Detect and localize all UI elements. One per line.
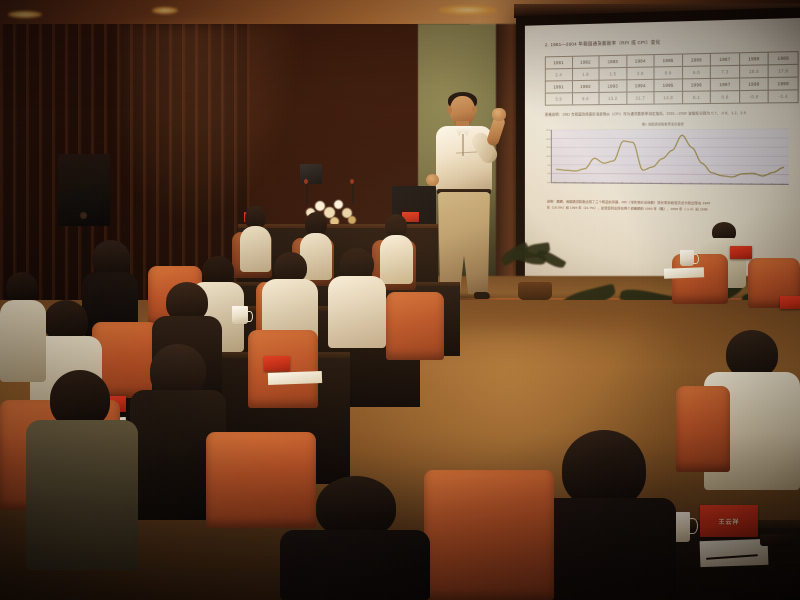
ceiling-light-icon [152,7,178,14]
audience-head [562,430,646,508]
mug-handle [247,311,253,322]
chart-x-tick: 04 [781,184,783,186]
audience-body [280,530,430,600]
microphone-head-icon [304,179,308,184]
table-cell: 1984 [626,55,654,68]
slide-surface: 2. 1981—2004 年我国通货膨胀率（RPI 或 CPI）变化 1981 … [525,18,800,285]
chart-x-tick: 99 [730,184,732,186]
table-row-values-2: 3.9 8.6 13.2 21.7 14.8 6.1 0.8 -0.8 -1.4 [545,90,798,105]
audience-member [280,476,430,600]
audience-head [316,476,396,538]
table-cell: 1996 [682,78,710,91]
audience-chair [424,470,554,600]
chart-x-tick: 85 [592,183,594,185]
table-cell: 1997 [711,78,740,91]
inflation-line-chart [551,129,789,185]
table-cell: 1998 [739,78,768,91]
chart-plot-area [552,129,789,184]
table-cell: 1.5 [599,67,626,80]
audience-member [0,272,46,382]
table-cell: 1993 [599,80,626,93]
table-cell: 13.2 [599,92,626,105]
audience-member [26,370,138,570]
presenter-shoe [474,292,490,299]
table-cell: 1983 [599,55,626,68]
ceiling-light-icon [438,5,498,15]
audience-body [26,420,138,570]
name-card [264,356,290,371]
chart-x-tick: 96 [700,183,702,185]
chart-x-tick: 87 [611,183,613,185]
flower [334,200,343,209]
chart-x-tick: 97 [710,183,712,185]
slide-heading: 2. 1981—2004 年我国通货膨胀率（RPI 或 CPI）变化 [545,39,661,48]
table-cell: -0.8 [739,90,768,103]
table-cell: 1.9 [572,68,599,81]
table-cell: 1986 [682,53,710,66]
table-cell: 21.7 [626,92,654,105]
chart-x-tick: 86 [602,183,604,185]
chart-x-tick: 88 [621,183,623,185]
name-card [730,246,752,259]
speaker-driver-icon [80,212,87,219]
audience-head [92,240,130,276]
chart-x-tick: 95 [690,183,692,185]
presenter-ear [447,106,452,114]
table-cell: 17.8 [769,64,799,77]
table-cell: 6.1 [682,91,710,104]
table-cell: -1.4 [769,90,799,103]
slide-note: 表格说明：1981 年我国改用居民消费物价（CPI）作为通货膨胀率测定指标，20… [545,110,746,117]
table-cell: 8.6 [572,92,599,105]
table-cell: 1999 [769,77,799,90]
audience-head [726,330,778,378]
name-card: 王云祥 [700,505,758,537]
name-card [780,296,800,309]
chart-x-tick: 82 [564,182,566,184]
audience-chair [386,292,444,360]
chart-title: 图1 我国通货膨胀率变化趋势 [525,121,800,127]
chart-x-tick: 01 [750,184,752,186]
mug-handle [693,254,699,264]
chart-x-tick: 98 [720,183,722,185]
table-cell: 1995 [654,79,682,92]
audience-chair [676,386,730,472]
table-cell: 1994 [626,79,654,92]
name-card-text: 王云祥 [718,517,739,526]
chart-x-tick: 81 [554,182,556,184]
table-cell: 1987 [711,53,740,66]
table-cell: 1985 [654,54,682,67]
table-cell: 18.5 [739,65,768,78]
mug-handle [688,518,698,534]
table-cell: 2.4 [545,68,572,81]
chart-x-axis-labels: 8182838485868788899091929394959697989900… [551,182,788,191]
presenter-trousers [438,192,490,294]
audience-body [328,276,386,348]
chart-x-tick: 03 [771,184,773,186]
curtain-light-glow [120,24,300,224]
chart-x-tick: 89 [631,183,633,185]
presenter-ear [472,106,477,114]
chart-x-tick: 92 [660,183,662,185]
chart-x-tick: 02 [761,184,763,186]
notepad [664,267,704,278]
table-cell: 0.8 [711,91,740,104]
notepad [700,539,769,567]
chart-x-tick: 83 [573,182,575,184]
table-cell: 1981 [545,56,572,69]
table-cell: 1988 [739,52,768,65]
table-cell: 3.9 [545,93,572,105]
chart-x-tick: 90 [641,183,643,185]
mug [232,306,248,324]
chart-x-tick: 91 [650,183,652,185]
inflation-table: 1981 1982 1983 1984 1985 1986 1987 1988 … [545,51,799,106]
table-cell: 2.8 [626,67,654,80]
mug [680,250,694,266]
chart-x-tick: 84 [583,182,585,184]
presenter-left-hand [426,174,439,186]
chart-y-axis-labels: 25%20%15%10%5%0%-5% [535,128,551,186]
table-cell: 14.8 [654,91,682,104]
table-cell: 1982 [572,56,599,69]
microphone-head-icon [350,179,354,184]
eyeglasses-case [760,534,794,546]
chart-x-tick: 94 [680,183,682,185]
table-cell: 8.8 [654,66,682,79]
conference-room-photo: 2. 1981—2004 年我国通货膨胀率（RPI 或 CPI）变化 1981 … [0,0,800,600]
table-cell: 7.3 [711,65,740,78]
ceiling-light-icon [8,11,42,18]
presenter-right-hand [492,108,506,121]
slide-caption: 说明：图期，我国通货膨胀出现了三个明显的周期，RPI（零售物价总指数）增长率的峰… [547,198,800,214]
table-cell: 1992 [572,80,599,93]
notepad [268,371,322,385]
audience-member [328,248,386,348]
table-cell: 1991 [545,81,572,93]
chart-x-tick: 00 [740,184,742,186]
table-cell: 1989 [769,52,799,65]
projection-screen: 2. 1981—2004 年我国通货膨胀率（RPI 或 CPI）变化 1981 … [516,7,800,296]
table-cell: 6.0 [682,66,710,79]
chart-x-tick: 93 [670,183,672,185]
flower [348,216,356,224]
